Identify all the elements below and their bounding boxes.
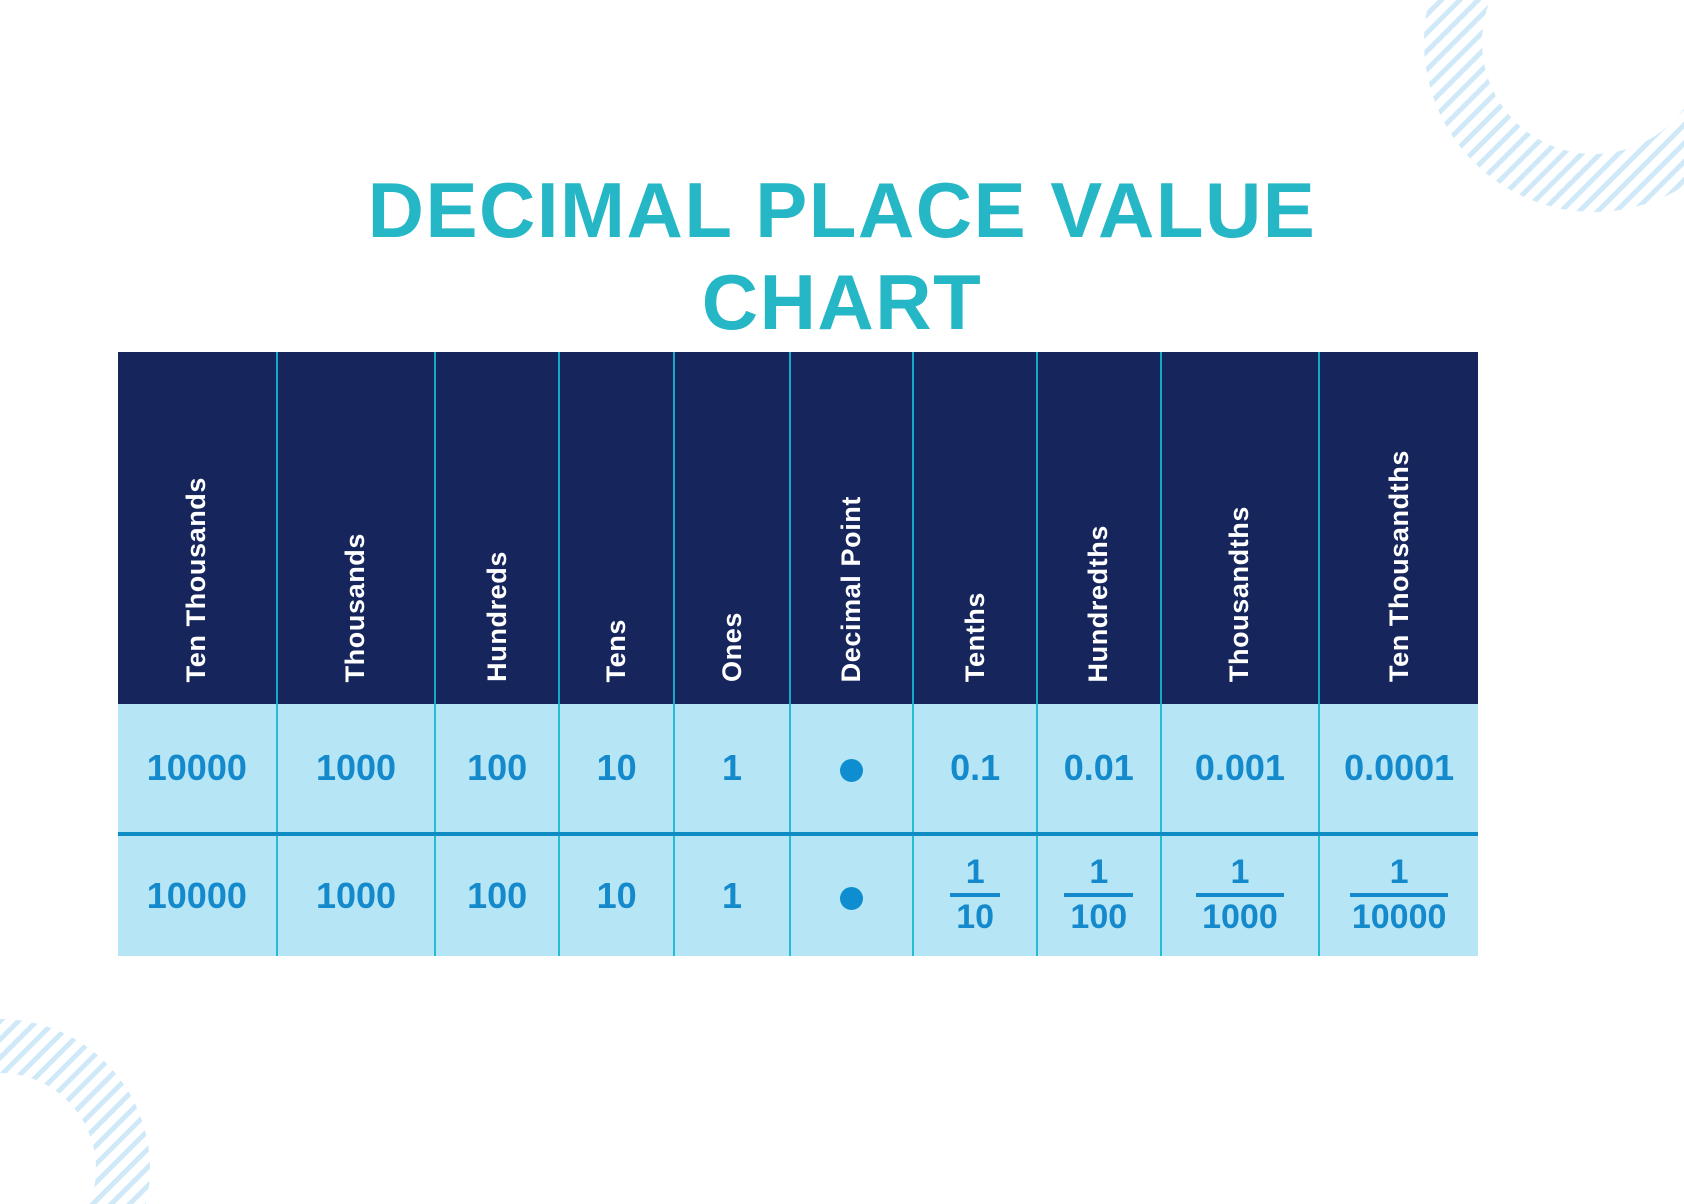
column-header-hundredths: Hundredths [1037,352,1161,704]
page-title: DECIMAL PLACE VALUE CHART [0,164,1684,348]
table-row-decimal-values: 10000 1000 100 10 1 0.1 0.01 0.001 0.000… [118,704,1478,834]
column-header-ten-thousandths: Ten Thousandths [1319,352,1478,704]
column-header-label: Ten Thousandths [1384,450,1415,682]
column-header-label: Ones [717,612,748,682]
fraction-denominator: 100 [1064,893,1133,936]
cell-fraction-ten-thousandths: 1 10000 [1319,834,1478,956]
cell-decimal-ten-thousands: 10000 [118,704,277,834]
fraction-numerator: 1 [1350,855,1449,894]
page-title-line1: DECIMAL PLACE VALUE [368,166,1317,254]
fraction-denominator: 10 [950,893,1000,936]
cell-fraction-tens: 10 [559,834,674,956]
page-title-line2: CHART [0,256,1684,348]
column-header-label: Hundreds [482,551,513,682]
cell-fraction-thousands: 1000 [277,834,436,956]
fraction-one-tenth: 1 10 [950,855,1000,936]
cell-decimal-tens: 10 [559,704,674,834]
column-header-thousandths: Thousandths [1161,352,1320,704]
cell-decimal-ones: 1 [674,704,789,834]
fraction-one-ten-thousandth: 1 10000 [1350,855,1449,936]
cell-fraction-hundredths: 1 100 [1037,834,1161,956]
column-header-label: Tenths [960,592,991,682]
cell-fraction-thousandths: 1 1000 [1161,834,1320,956]
column-header-label: Thousands [340,533,371,682]
cell-decimal-ten-thousandths: 0.0001 [1319,704,1478,834]
cell-decimal-hundreds: 100 [435,704,559,834]
cell-fraction-hundreds: 100 [435,834,559,956]
fraction-one-thousandth: 1 1000 [1196,855,1284,936]
column-header-ten-thousands: Ten Thousands [118,352,277,704]
cell-fraction-ones: 1 [674,834,789,956]
column-header-label: Hundredths [1083,525,1114,683]
cell-fraction-decimal-point [790,834,914,956]
fraction-denominator: 10000 [1350,893,1449,936]
cell-decimal-hundredths: 0.01 [1037,704,1161,834]
column-header-hundreds: Hundreds [435,352,559,704]
column-header-label: Tens [601,619,632,682]
decorative-arc-bottom-left [0,984,280,1204]
cell-fraction-ten-thousands: 10000 [118,834,277,956]
cell-decimal-point [790,704,914,834]
fraction-denominator: 1000 [1196,893,1284,936]
table-row-fraction-values: 10000 1000 100 10 1 1 10 1 100 [118,834,1478,956]
column-header-label: Thousandths [1224,506,1255,682]
table-header-row: Ten Thousands Thousands Hundreds Tens On… [118,352,1478,704]
column-header-tens: Tens [559,352,674,704]
cell-decimal-thousands: 1000 [277,704,436,834]
cell-fraction-tenths: 1 10 [913,834,1037,956]
cell-decimal-tenths: 0.1 [913,704,1037,834]
fraction-numerator: 1 [950,855,1000,894]
fraction-numerator: 1 [1064,855,1133,894]
column-header-tenths: Tenths [913,352,1037,704]
fraction-numerator: 1 [1196,855,1284,894]
decimal-point-dot-icon [840,759,863,782]
place-value-table: Ten Thousands Thousands Hundreds Tens On… [118,352,1478,956]
decimal-point-dot-icon [840,887,863,910]
fraction-one-hundredth: 1 100 [1064,855,1133,936]
column-header-ones: Ones [674,352,789,704]
column-header-thousands: Thousands [277,352,436,704]
column-header-label: Decimal Point [836,496,867,682]
cell-decimal-thousandths: 0.001 [1161,704,1320,834]
column-header-label: Ten Thousands [181,477,212,682]
column-header-decimal-point: Decimal Point [790,352,914,704]
